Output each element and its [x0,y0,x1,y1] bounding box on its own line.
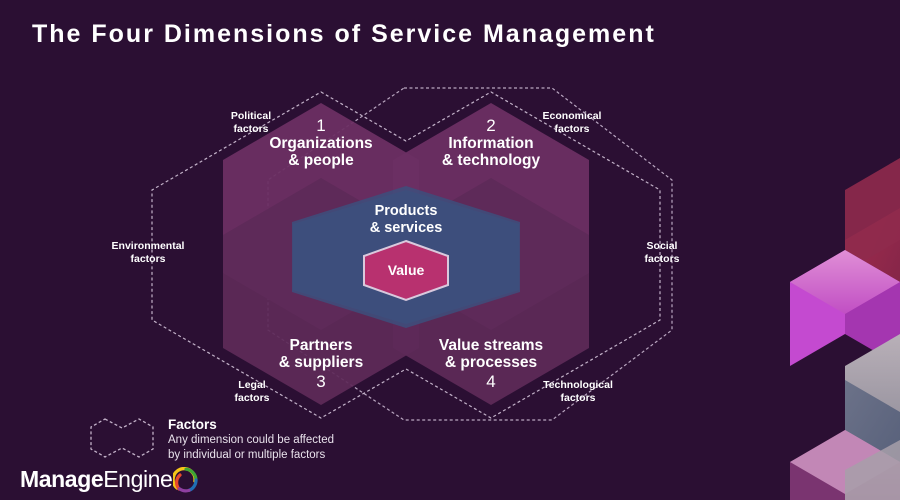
factor-economical-line2: factors [522,123,622,136]
factor-social: Social factors [612,240,712,266]
dashed-double-hexagon-icon [88,416,156,460]
manageengine-logo: Manage Engine [20,466,199,493]
dimension-4-name-line2: & processes [403,354,579,371]
center-line2: & services [316,220,496,237]
center-products-services-label: Products & services [316,203,496,236]
legend-title: Factors [168,418,334,433]
factor-economical-line1: Economical [522,110,622,123]
factor-environmental-line2: factors [93,253,203,266]
manageengine-brand-light: Engine [103,466,172,493]
factor-environmental-line1: Environmental [93,240,203,253]
page-title: The Four Dimensions of Service Managemen… [32,20,656,49]
factor-technological-line2: factors [523,392,633,405]
dimension-1-name-line1: Organizations [233,135,409,152]
legend-desc-line1: Any dimension could be affected [168,433,334,448]
center-line1: Products [316,203,496,220]
dimension-4-name-line1: Value streams [403,337,579,354]
value-label: Value [346,262,466,278]
factor-political: Political factors [201,110,301,136]
factor-technological-line1: Technological [523,379,633,392]
factor-technological: Technological factors [523,379,633,405]
dimension-2-name-line2: & technology [403,152,579,169]
legend: Factors Any dimension could be affected … [88,416,334,462]
factor-political-line2: factors [201,123,301,136]
dimension-2-name-line1: Information [403,135,579,152]
factor-legal-line2: factors [202,392,302,405]
legend-desc-line2: by individual or multiple factors [168,448,334,463]
manageengine-brand-bold: Manage [20,466,103,493]
manageengine-swoosh-icon [173,467,199,493]
dimension-1-name-line2: & people [233,152,409,169]
factor-political-line1: Political [201,110,301,123]
factor-economical: Economical factors [522,110,622,136]
factor-environmental: Environmental factors [93,240,203,266]
decorative-cubes [790,0,900,500]
dimension-3-name-line1: Partners [233,337,409,354]
slide-canvas: The Four Dimensions of Service Managemen… [0,0,900,500]
factor-legal: Legal factors [202,379,302,405]
factor-social-line1: Social [612,240,712,253]
dimension-3-name-line2: & suppliers [233,354,409,371]
factor-social-line2: factors [612,253,712,266]
factor-legal-line1: Legal [202,379,302,392]
